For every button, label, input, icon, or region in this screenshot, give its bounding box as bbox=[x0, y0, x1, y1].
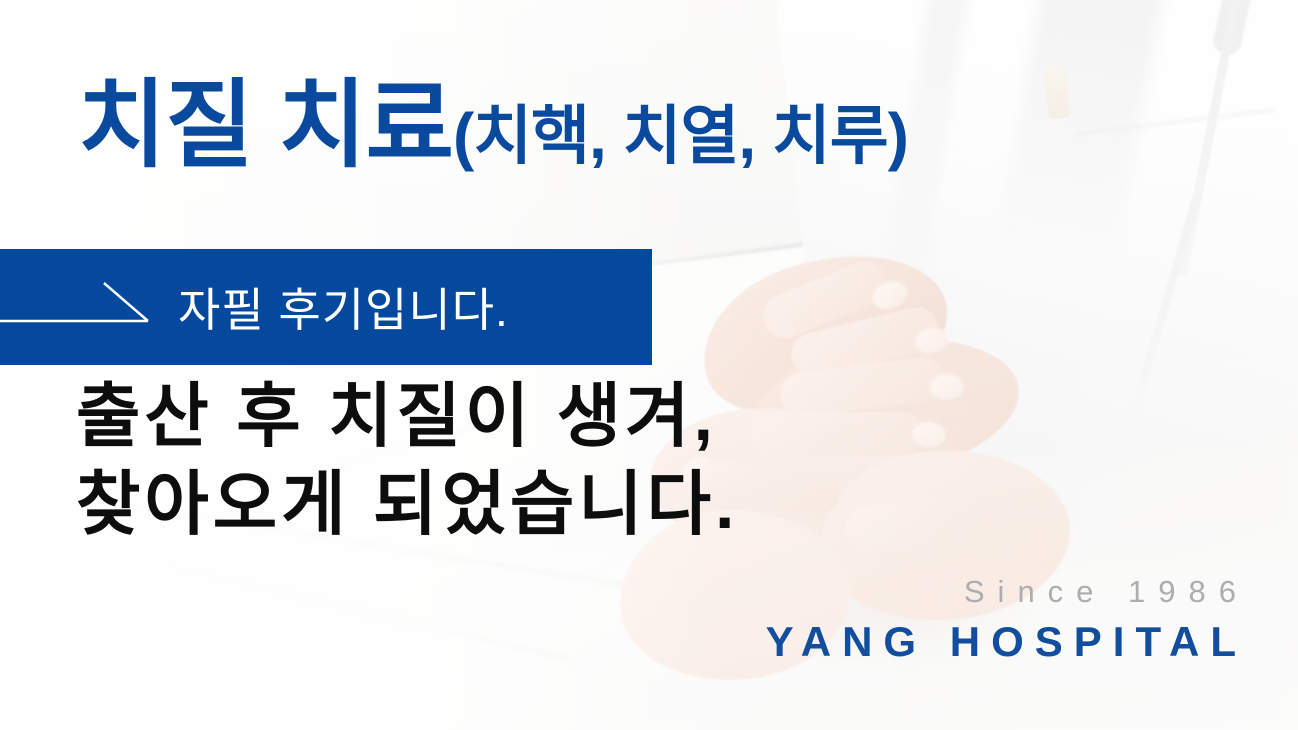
review-tag: 자필 후기입니다. bbox=[0, 249, 652, 365]
review-tag-label: 자필 후기입니다. bbox=[178, 274, 509, 340]
banner-content: 치질 치료(치핵, 치열, 치루) 자필 후기입니다. 출산 후 치질이 생겨,… bbox=[0, 0, 1298, 730]
hospital-logo: Since 1986 YANG HOSPITAL bbox=[766, 575, 1236, 668]
page-title-parenthetical: (치핵, 치열, 치루) bbox=[453, 100, 908, 172]
logo-hospital-name: YANG HOSPITAL bbox=[766, 616, 1247, 669]
page-title-main: 치질 치료 bbox=[78, 72, 453, 179]
page-title: 치질 치료(치핵, 치열, 치루) bbox=[78, 78, 908, 174]
hospital-promo-banner: 치질 치료(치핵, 치열, 치루) 자필 후기입니다. 출산 후 치질이 생겨,… bbox=[0, 0, 1298, 730]
logo-since-label: Since 1986 bbox=[766, 575, 1249, 609]
testimony-line-1: 출산 후 치질이 생겨, bbox=[76, 372, 739, 460]
arrow-line-icon bbox=[0, 277, 150, 337]
testimony-text: 출산 후 치질이 생겨, 찾아오게 되었습니다. bbox=[76, 372, 739, 548]
testimony-line-2: 찾아오게 되었습니다. bbox=[76, 460, 739, 548]
